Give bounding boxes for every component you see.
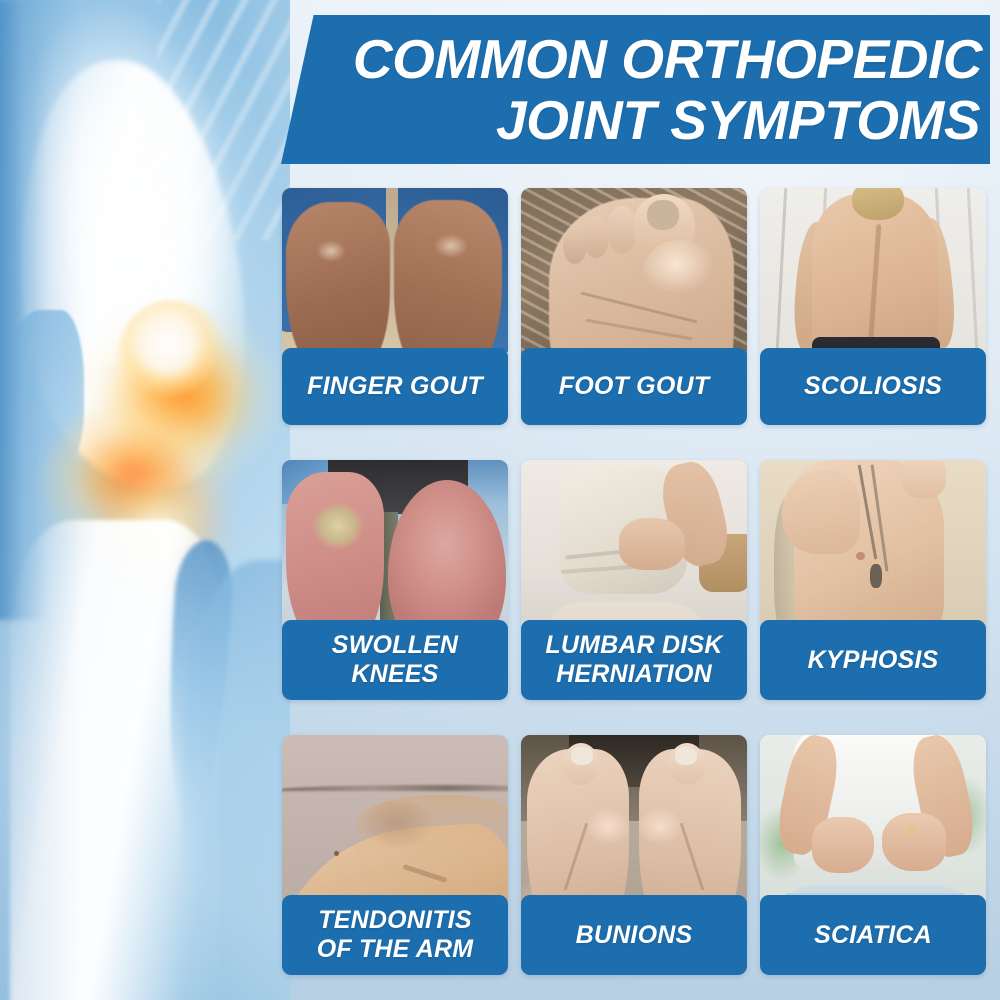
photo-detail <box>434 234 468 258</box>
symptom-label-line-1: KYPHOSIS <box>808 646 939 675</box>
symptom-label-sciatica: SCIATICA <box>760 895 986 975</box>
symptom-label-kyphosis: KYPHOSIS <box>760 620 986 700</box>
symptom-card-swollen-knees[interactable]: SWOLLEN KNEES <box>282 460 508 700</box>
photo-detail <box>282 785 508 791</box>
photo-detail <box>902 460 946 498</box>
photo-detail <box>852 188 904 220</box>
symptom-card-bunions[interactable]: BUNIONS <box>521 735 747 975</box>
symptom-label-swollen-knees: SWOLLEN KNEES <box>282 620 508 700</box>
symptom-card-lumbar-disk-herniation[interactable]: LUMBAR DISK HERNIATION <box>521 460 747 700</box>
symptom-label-scoliosis: SCOLIOSIS <box>760 348 986 425</box>
symptom-label-line-2: HERNIATION <box>545 660 722 689</box>
photo-detail <box>870 564 882 588</box>
photo-detail <box>316 240 346 262</box>
symptom-card-tendonitis-of-the-arm[interactable]: TENDONITIS OF THE ARM <box>282 735 508 975</box>
photo-detail <box>856 552 865 560</box>
photo-detail <box>882 813 946 871</box>
infographic-poster: COMMON ORTHOPEDIC JOINT SYMPTOMS FINGER <box>0 0 1000 1000</box>
symptom-card-kyphosis[interactable]: KYPHOSIS <box>760 460 986 700</box>
photo-detail <box>619 518 685 570</box>
symptom-label-bunions: BUNIONS <box>521 895 747 975</box>
photo-detail <box>583 216 609 258</box>
symptom-label-line-1: SWOLLEN <box>332 631 458 660</box>
symptom-card-foot-gout[interactable]: FOOT GOUT <box>521 188 747 425</box>
symptom-label-line-2: OF THE ARM <box>317 935 474 964</box>
photo-detail <box>571 747 593 765</box>
symptom-label-line-1: FINGER GOUT <box>307 372 483 401</box>
photo-detail <box>647 200 679 230</box>
symptom-label-line-1: FOOT GOUT <box>559 372 709 401</box>
photo-detail <box>643 240 717 300</box>
knee-xray-illustration <box>0 0 290 1000</box>
photo-detail <box>334 851 339 856</box>
photo-detail <box>675 747 697 765</box>
photo-detail <box>637 809 683 847</box>
anatomy-vignette <box>0 0 290 1000</box>
photo-detail <box>782 470 860 554</box>
symptom-label-tendonitis-of-the-arm: TENDONITIS OF THE ARM <box>282 895 508 975</box>
photo-detail <box>585 809 631 847</box>
symptom-label-line-1: LUMBAR DISK <box>545 631 722 660</box>
photo-detail <box>286 472 384 642</box>
photo-detail <box>907 827 916 836</box>
symptom-card-finger-gout[interactable]: FINGER GOUT <box>282 188 508 425</box>
symptom-label-foot-gout: FOOT GOUT <box>521 348 747 425</box>
symptom-card-sciatica[interactable]: SCIATICA <box>760 735 986 975</box>
photo-detail <box>312 502 364 550</box>
photo-detail <box>812 817 874 873</box>
symptom-card-grid: FINGER GOUT FOOT GOUT <box>282 188 986 978</box>
symptom-label-line-1: BUNIONS <box>576 921 693 950</box>
photo-detail <box>360 801 434 855</box>
symptom-label-finger-gout: FINGER GOUT <box>282 348 508 425</box>
symptom-label-line-1: SCIATICA <box>814 921 932 950</box>
symptom-label-lumbar-disk-herniation: LUMBAR DISK HERNIATION <box>521 620 747 700</box>
symptom-label-line-2: KNEES <box>332 660 458 689</box>
symptom-label-line-1: SCOLIOSIS <box>804 372 942 401</box>
symptom-card-scoliosis[interactable]: SCOLIOSIS <box>760 188 986 425</box>
photo-detail <box>286 202 390 372</box>
symptom-label-line-1: TENDONITIS <box>317 906 474 935</box>
